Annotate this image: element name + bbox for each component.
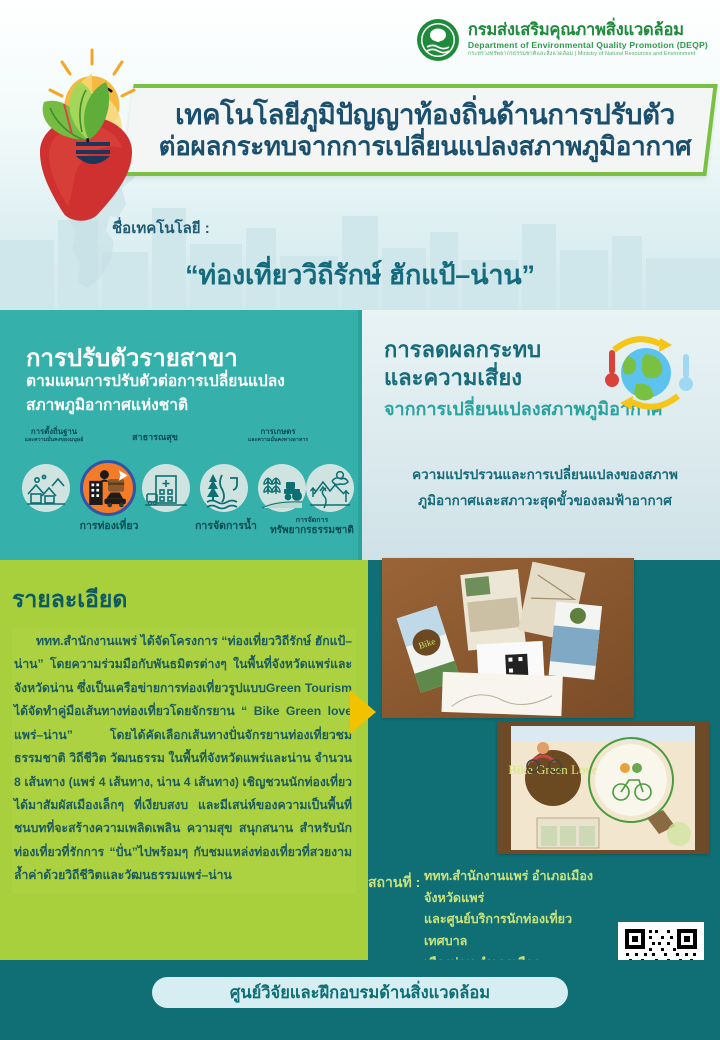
page-title-line1: เทคโนโลยีภูมิปัญญาท้องถิ่นด้านการปรับตัว [175,99,675,131]
deqp-logo: กรมส่งเสริมคุณภาพสิ่งแวดล้อม Department … [416,18,708,62]
mitigation-body-line2: ภูมิอากาศและสภาวะสุดขั้วของลมฟ้าอากาศ [418,493,672,508]
sector-icons-row: การตั้งถิ่นฐาน และความมั่นคงของมนุษย์ สา… [10,458,355,550]
sector-icon-tourism-city-bus-icon[interactable] [80,460,136,516]
org-name-en: Department of Environmental Quality Prom… [468,41,708,50]
sector-icon-natural-resources-mountain-icon[interactable] [306,464,354,512]
header-band: กรมส่งเสริมคุณภาพสิ่งแวดล้อม Department … [0,0,720,310]
sector-icon-water-management-icon[interactable] [200,464,248,512]
mitigation-body: ความแปรปรวนและการเปลี่ยนแปลงของสภาพ ภูมิ… [380,462,710,513]
mitigation-heading-line2: และความเสี่ยง [384,365,522,390]
mitigation-heading: การลดผลกระทบ และความเสี่ยง [384,336,541,391]
bike-green-love-poster-photo: Bike Green Love [497,722,709,854]
technology-label: ชื่อเทคโนโลยี : [112,216,210,240]
adaptation-subheading-line1: ตามแผนการปรับตัวต่อการเปลี่ยนแปลง [26,373,285,390]
panels-row: การปรับตัวรายสาขา ตามแผนการปรับตัวต่อการ… [0,310,720,560]
sector-icon-agriculture-wheat-tractor-icon[interactable] [258,464,306,512]
adaptation-subheading: ตามแผนการปรับตัวต่อการเปลี่ยนแปลง สภาพภู… [26,370,346,418]
brochures-and-maps-photo: Bike [382,558,634,718]
page-title-line2: ต่อผลกระทบจากการเปลี่ยนแปลงสภาพภูมิอากาศ [159,131,692,161]
org-name-th: กรมส่งเสริมคุณภาพสิ่งแวดล้อม [468,22,708,39]
sector-label-3: การจัดการน้ำ [180,520,272,532]
sector-label-5: การจัดการ ทรัพยากรธรรมชาติ [268,516,356,537]
yellow-arrow-right-icon [350,690,376,734]
lightbulb-leaf-map-pin-icon [22,46,164,226]
sector-label-0-sub: และความมั่นคงของมนุษย์ [8,437,100,443]
sector-label-3-main: การจัดการน้ำ [195,520,257,532]
sector-label-5-main: การจัดการ [296,517,329,524]
location-label: สถานที่ : [368,872,420,894]
sector-icon-settlement-houses-icon[interactable] [22,464,70,512]
sector-icon-public-health-hospital-icon[interactable] [142,464,190,512]
mitigation-body-line1: ความแปรปรวนและการเปลี่ยนแปลงของสภาพ [412,467,678,482]
details-body: ททท.สำนักงานแพร่ ได้จัดโครงการ “ท่องเที่… [12,628,356,894]
sector-label-0: การตั้งถิ่นฐาน และความมั่นคงของมนุษย์ [8,428,100,443]
sector-label-1-main: การท่องเที่ยว [80,520,139,532]
sector-label-0-main: การตั้งถิ่นฐาน [31,427,77,436]
adaptation-subheading-line2: สภาพภูมิอากาศแห่งชาติ [26,397,188,414]
sector-label-5-sub: ทรัพยากรธรรมชาติ [268,525,356,537]
sector-label-4: การเกษตร และความมั่นคงทางอาหาร [232,428,324,443]
mitigation-heading-line1: การลดผลกระทบ [384,337,541,362]
location-line-1: ททท.สำนักงานแพร่ อำเภอเมือง จังหวัดแพร่ [424,869,593,905]
org-ministry: กระทรวงทรัพยากรธรรมชาติและสิ่งแวดล้อม | … [468,52,708,58]
sector-label-1: การท่องเที่ยว [62,520,156,532]
photo2-title: Bike Green Love [508,762,598,777]
details-heading: รายละเอียด [12,582,356,618]
sector-label-4-main: การเกษตร [260,427,295,436]
poster-root: กรมส่งเสริมคุณภาพสิ่งแวดล้อม Department … [0,0,720,1040]
sector-label-2-main: สาธารณสุข [132,432,178,442]
footer-text: ศูนย์วิจัยและฝึกอบรมด้านสิ่งแวดล้อม [230,980,490,1006]
location-line-2: และศูนย์บริการนักท่องเที่ยวเทศบาล [424,912,572,948]
adaptation-sectors-panel: การปรับตัวรายสาขา ตามแผนการปรับตัวต่อการ… [0,310,358,560]
globe-thermometer-cycle-icon [590,328,702,420]
mitigation-panel: การลดผลกระทบ และความเสี่ยง จากการเปลี่ยน… [358,310,720,560]
sector-label-2: สาธารณสุข [120,432,190,442]
technology-name: “ท่องเที่ยววิถีรักษ์ ฮักแป้–น่าน” [0,253,720,296]
deqp-seal-icon [416,18,460,62]
title-block: เทคโนโลยีภูมิปัญญาท้องถิ่นด้านการปรับตัว… [138,86,712,174]
sector-label-4-sub: และความมั่นคงทางอาหาร [232,437,324,443]
details-panel: รายละเอียด ททท.สำนักงานแพร่ ได้จัดโครงกา… [0,560,368,960]
details-content: รายละเอียด ททท.สำนักงานแพร่ ได้จัดโครงกา… [12,582,356,894]
footer-pill: ศูนย์วิจัยและฝึกอบรมด้านสิ่งแวดล้อม [152,977,568,1008]
